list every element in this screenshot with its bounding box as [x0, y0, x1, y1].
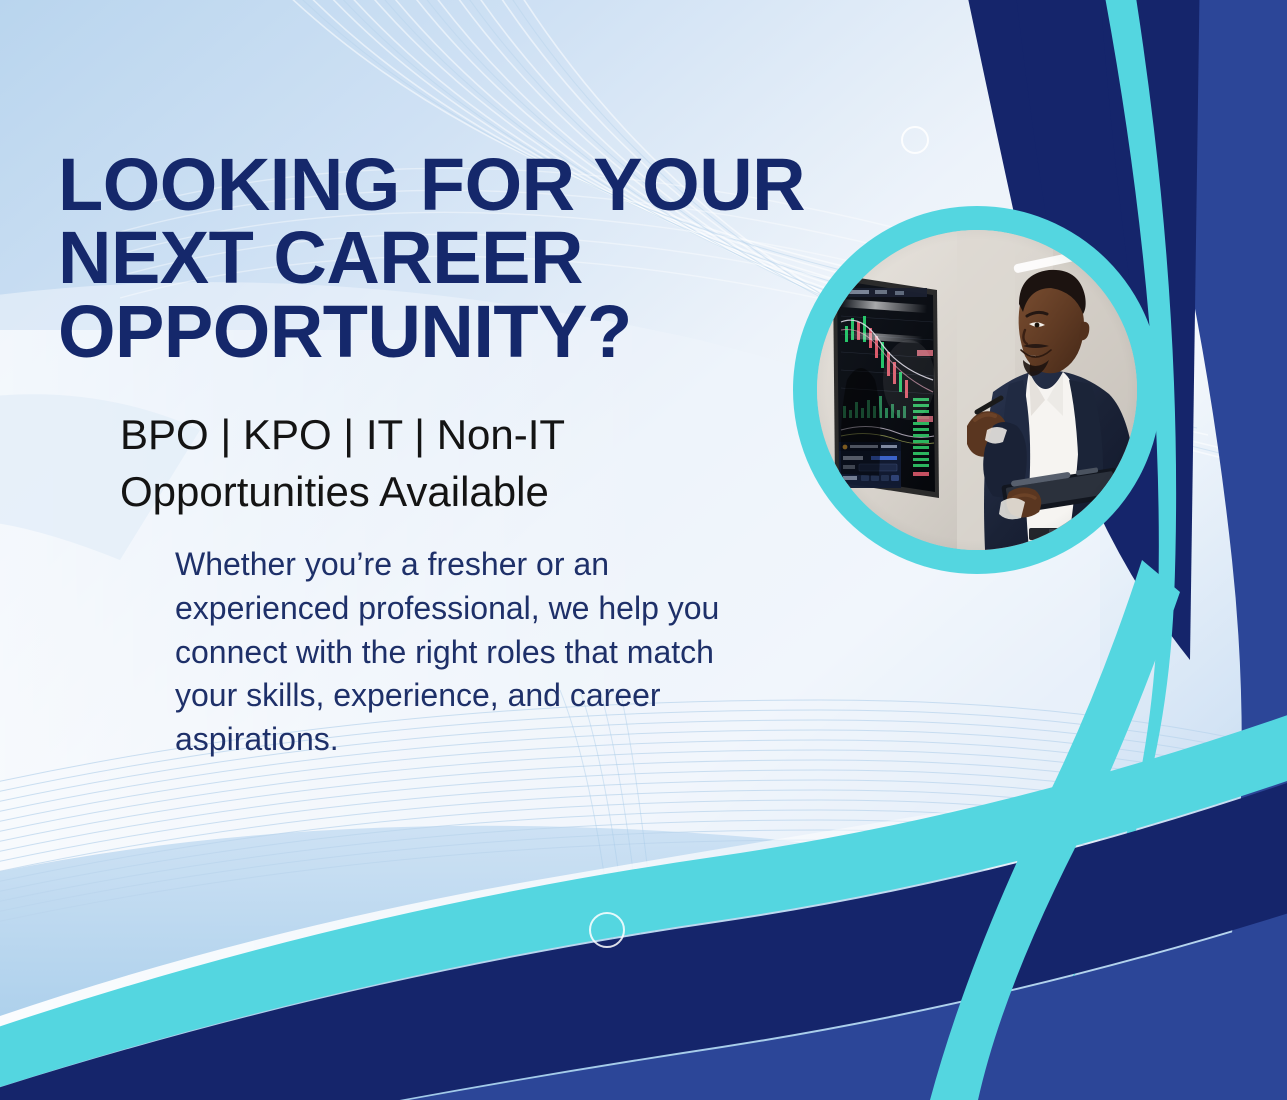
body-line-5: aspirations. — [175, 718, 815, 762]
poster-copy: LOOKING FOR YOUR NEXT CAREER OPPORTUNITY… — [0, 0, 1287, 1100]
body-line-1: Whether you’re a fresher or an — [175, 543, 815, 587]
headline-line-3: OPPORTUNITY? — [58, 295, 938, 368]
headline-line-1: LOOKING FOR YOUR — [58, 148, 938, 221]
body-line-2: experienced professional, we help you — [175, 587, 815, 631]
page-title: LOOKING FOR YOUR NEXT CAREER OPPORTUNITY… — [58, 148, 938, 368]
body-line-4: your skills, experience, and career — [175, 674, 815, 718]
subtitle-line-1: BPO | KPO | IT | Non-IT — [120, 407, 760, 464]
subtitle: BPO | KPO | IT | Non-IT Opportunities Av… — [120, 407, 760, 520]
subtitle-line-2: Opportunities Available — [120, 464, 760, 521]
body-paragraph: Whether you’re a fresher or an experienc… — [175, 543, 815, 762]
body-line-3: connect with the right roles that match — [175, 631, 815, 675]
promotional-banner: LOOKING FOR YOUR NEXT CAREER OPPORTUNITY… — [0, 0, 1287, 1100]
headline-line-2: NEXT CAREER — [58, 221, 938, 294]
